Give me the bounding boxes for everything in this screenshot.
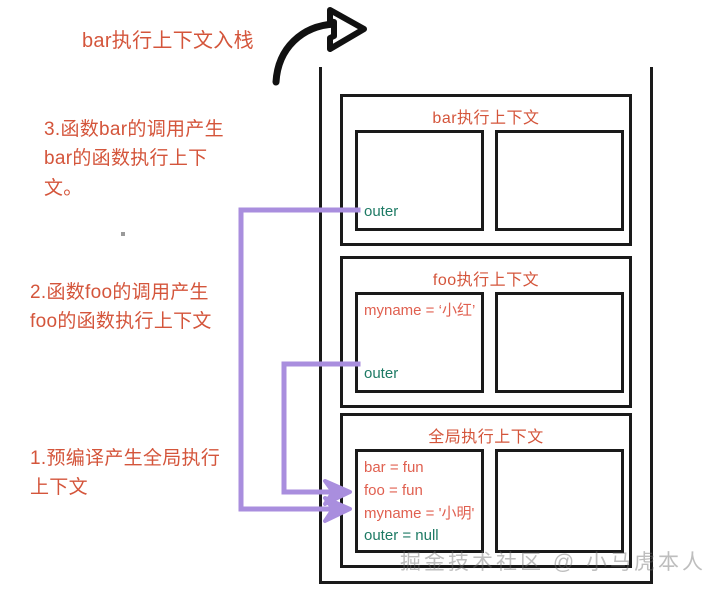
variable-global-foo: foo = fun: [364, 480, 484, 503]
stray-dot-mark: [121, 232, 125, 236]
diagram-canvas: bar执行上下文入栈 3.函数bar的调用产生bar的函数执行上下文。 2.函数…: [0, 0, 720, 591]
variable-global-myname: myname = '小明': [364, 503, 484, 526]
variable-global-outer: outer = null: [364, 525, 484, 548]
watermark-text: 掘金技术社区 @ 小马虎本人: [400, 546, 706, 576]
variable-bar-outer: outer: [364, 201, 484, 224]
annotation-step-3: 3.函数bar的调用产生bar的函数执行上下文。: [44, 115, 244, 203]
global-variable-list: bar = fun foo = fun myname = '小明' outer …: [364, 457, 484, 548]
context-frame-bar: bar执行上下文 outer: [340, 94, 632, 246]
context-title-bar: bar执行上下文: [343, 104, 629, 128]
variable-global-bar: bar = fun: [364, 457, 484, 480]
context-foo-left-slot: myname = ‘小红’ outer: [355, 292, 484, 393]
context-title-foo: foo执行上下文: [343, 266, 629, 290]
context-frame-foo: foo执行上下文 myname = ‘小红’ outer: [340, 256, 632, 408]
context-frame-global: 全局执行上下文 bar = fun foo = fun myname = '小明…: [340, 413, 632, 568]
context-bar-left-slot: outer: [355, 130, 484, 231]
variable-foo-myname: myname = ‘小红’: [364, 300, 484, 323]
context-bar-right-slot: [495, 130, 624, 231]
variable-foo-outer: outer: [364, 363, 484, 386]
annotation-step-2: 2.函数foo的调用产生foo的函数执行上下文: [30, 278, 225, 337]
context-global-left-slot: bar = fun foo = fun myname = '小明' outer …: [355, 449, 484, 553]
annotation-step-1: 1.预编译产生全局执行上下文: [30, 444, 225, 503]
context-foo-right-slot: [495, 292, 624, 393]
callout-bar-push-label: bar执行上下文入栈: [82, 28, 254, 54]
context-global-right-slot: [495, 449, 624, 553]
context-title-global: 全局执行上下文: [343, 423, 629, 447]
